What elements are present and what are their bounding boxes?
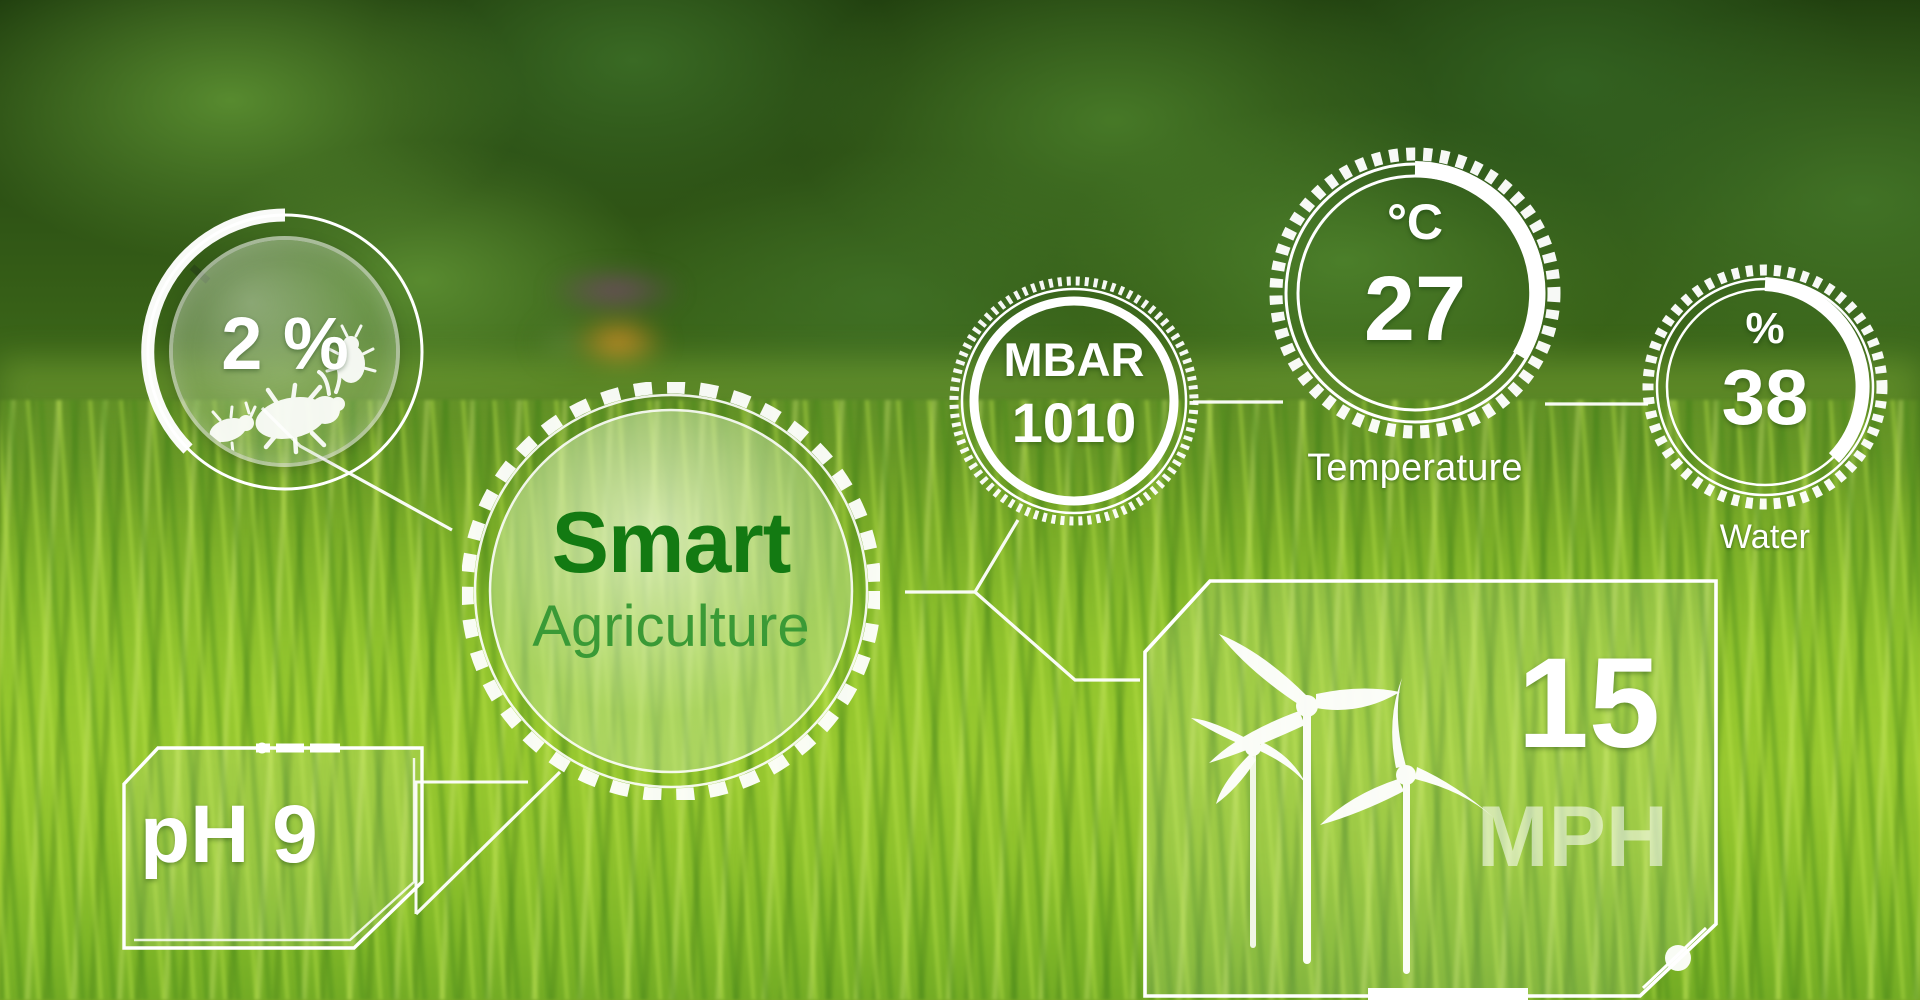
temperature-gauge-label: Temperature bbox=[1267, 447, 1563, 490]
wind-panel[interactable]: 15 MPH bbox=[1140, 576, 1720, 1000]
wind-panel-unit: MPH bbox=[1477, 794, 1668, 880]
temperature-gauge-value: 27 bbox=[1267, 263, 1563, 355]
connector-hub-to-wind bbox=[975, 592, 1140, 680]
temperature-gauge-unit: °C bbox=[1267, 197, 1563, 247]
ph-panel-value: pH 9 bbox=[140, 794, 318, 876]
ph-panel[interactable]: pH 9 bbox=[118, 742, 428, 954]
connector-ph-frame-riser bbox=[416, 782, 528, 914]
smart-agriculture-hub[interactable]: Smart Agriculture bbox=[462, 382, 880, 800]
water-gauge-unit: % bbox=[1640, 307, 1890, 351]
water-gauge-value: 38 bbox=[1640, 358, 1890, 436]
pressure-gauge[interactable]: MBAR 1010 bbox=[945, 272, 1203, 530]
hub-title-smart: Smart bbox=[462, 500, 880, 586]
hud-layer: 2 % Smart Agriculture bbox=[0, 0, 1920, 1000]
water-gauge[interactable]: % 38 Water bbox=[1640, 262, 1890, 512]
pest-gauge-value: 2 % bbox=[140, 307, 430, 381]
connector-hub-to-pressure bbox=[905, 520, 1018, 592]
temperature-gauge[interactable]: °C 27 Temperature bbox=[1267, 145, 1563, 441]
pest-gauge[interactable]: 2 % bbox=[140, 207, 430, 497]
water-gauge-label: Water bbox=[1640, 518, 1890, 557]
wind-panel-value: 15 bbox=[1518, 640, 1660, 768]
smart-agriculture-overlay: 2 % Smart Agriculture bbox=[0, 0, 1920, 1000]
hub-title-agriculture: Agriculture bbox=[462, 598, 880, 656]
pressure-gauge-unit: MBAR bbox=[945, 336, 1203, 383]
hub-rings bbox=[462, 382, 880, 800]
pressure-gauge-value: 1010 bbox=[945, 395, 1203, 451]
